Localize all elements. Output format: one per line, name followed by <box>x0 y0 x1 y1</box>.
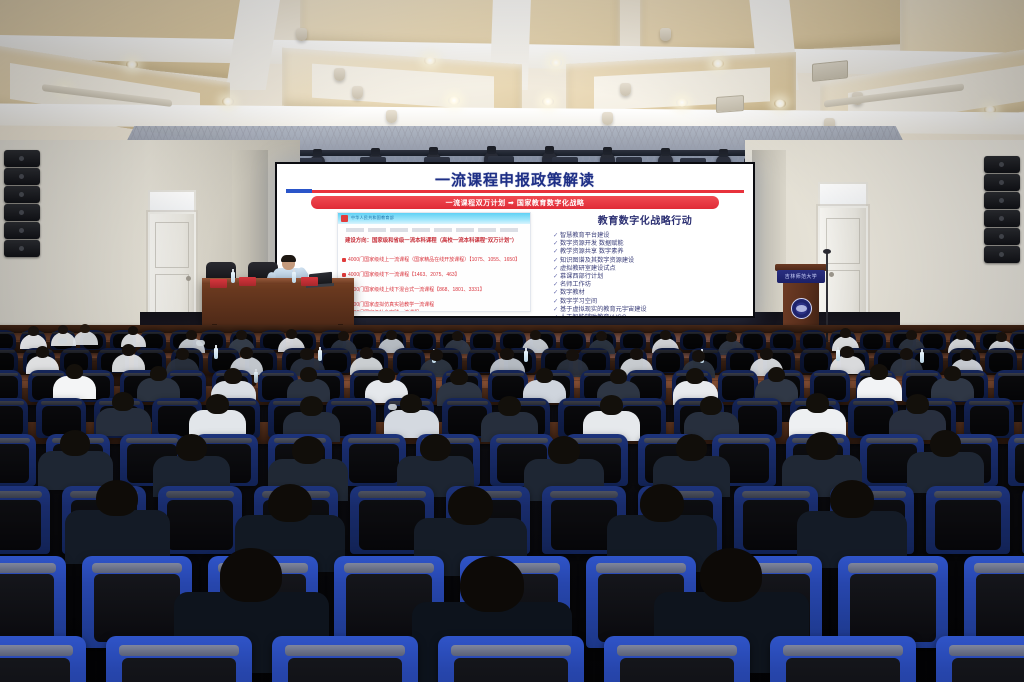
seat-top-trim <box>0 373 18 376</box>
seat-cushion <box>323 353 348 372</box>
water-bottle <box>318 350 322 361</box>
attendee-head <box>206 394 229 414</box>
right-panel-item-label: 知识图谱及其数字资源建设 <box>560 257 634 264</box>
attendee-head <box>450 369 468 385</box>
seat-top-trim <box>447 401 488 405</box>
seat-cushion <box>952 658 1024 682</box>
seat-cushion <box>0 376 18 400</box>
attendee-head <box>700 548 762 602</box>
table-name-card <box>301 277 318 286</box>
seat-top-trim <box>0 645 73 656</box>
attendee-head <box>452 331 463 341</box>
attendee-head <box>400 394 422 413</box>
slide-title: 一流课程申报政策解读 <box>277 169 753 190</box>
seat-top-trim <box>492 373 525 376</box>
presenter-hair <box>281 255 296 262</box>
attendee-head <box>460 556 524 612</box>
document-paragraph: 建设方向：国家级和省级一流本科课程（高校一流本科课程"双万计划"） <box>345 237 525 245</box>
seat[interactable] <box>158 486 242 554</box>
ceiling-spot-icon <box>334 68 345 81</box>
attendee-head <box>536 368 553 383</box>
attendee-head <box>58 325 68 334</box>
attendee-shoulders <box>96 408 151 437</box>
seat-top-trim <box>0 491 42 498</box>
attendee-head <box>300 348 314 360</box>
seat-top-trim <box>400 373 433 376</box>
seat-cushion <box>0 658 70 682</box>
seat-cushion <box>656 353 681 372</box>
seat-top-trim <box>1014 438 1024 443</box>
attendee-head <box>386 330 397 340</box>
seat-top-trim <box>0 401 24 405</box>
right-panel-item-label: 数字学习空间 <box>560 298 597 305</box>
ceiling-spot-icon <box>296 28 307 41</box>
seat-cushion <box>976 574 1024 642</box>
seat-top-trim <box>262 373 295 376</box>
face-mask <box>58 338 67 344</box>
seat-cushion <box>773 334 793 349</box>
attendee-shoulders <box>73 331 98 345</box>
check-icon: ✓ <box>553 240 560 248</box>
seat[interactable] <box>604 636 750 682</box>
seat-cushion <box>397 353 422 372</box>
seat-cushion <box>786 658 900 682</box>
document-bullet-item: 1000门国家级社会实践一流课程 <box>348 310 524 312</box>
seat[interactable] <box>0 330 16 350</box>
attendee-head <box>692 350 705 362</box>
attendee-head <box>640 484 684 522</box>
check-icon: ✓ <box>553 265 560 273</box>
door-knob-icon[interactable] <box>829 272 834 277</box>
ceiling-spot-icon <box>602 112 613 125</box>
seat-top-trim <box>0 563 56 572</box>
right-panel-item-label: 人工智能辅助教育/AIGC <box>560 314 626 316</box>
seat[interactable] <box>964 556 1024 648</box>
attendee-head <box>566 349 579 361</box>
right-panel-item-label: 智慧教育平台建设 <box>560 232 610 239</box>
check-icon: ✓ <box>553 306 560 314</box>
downlight <box>448 96 460 105</box>
seat[interactable] <box>860 330 886 350</box>
attendee-head <box>176 434 207 461</box>
seat-cushion <box>288 658 402 682</box>
attendee-head <box>112 392 134 411</box>
seat[interactable] <box>680 330 706 350</box>
seat-top-trim <box>742 491 811 498</box>
check-icon: ✓ <box>553 298 560 306</box>
seat-cushion <box>620 658 734 682</box>
attendee-head <box>840 346 854 358</box>
downlight <box>712 59 724 68</box>
attendee-head <box>830 480 874 518</box>
right-panel-item: ✓数字教材 <box>553 289 743 297</box>
attendee-head <box>530 330 541 340</box>
slide-document-screenshot: 中华人民共和国教育部 建设方向：国家级和省级一流本科课程（高校一流本科课程"双万… <box>337 212 531 312</box>
table-name-card <box>239 277 256 286</box>
door-knob-icon[interactable] <box>186 276 191 281</box>
seat[interactable] <box>838 556 948 648</box>
attendee-head <box>128 326 138 335</box>
slide-divider-accent <box>286 189 312 193</box>
seat-top-trim <box>157 401 198 405</box>
downlight <box>126 60 138 69</box>
seat-top-trim <box>998 373 1024 376</box>
seat[interactable] <box>410 330 436 350</box>
water-bottle <box>292 272 296 283</box>
seat[interactable] <box>770 636 916 682</box>
lecture-hall-photo: 一流课程申报政策解读 一流课程双万计划 ➡ 国家教育数字化战略 中华人民共和国教… <box>0 0 1024 682</box>
attendee-head <box>36 346 49 358</box>
seat-cushion <box>722 376 753 400</box>
attendee-head <box>80 324 90 333</box>
seat-top-trim <box>92 563 182 572</box>
speaker-stack-right <box>984 156 1020 268</box>
attendee-shoulders <box>53 376 96 399</box>
seat[interactable] <box>1008 434 1024 486</box>
seat[interactable] <box>0 556 66 648</box>
attendee-head <box>660 330 671 340</box>
downlight <box>542 97 554 106</box>
attendee-head <box>60 430 90 456</box>
face-mask <box>196 340 205 346</box>
attendee-head <box>268 484 312 522</box>
right-panel-item: ✓知识图谱及其数字资源建设 <box>553 257 743 265</box>
document-subheader-lines <box>346 228 522 232</box>
seat-cushion <box>94 574 180 642</box>
water-bottle <box>214 348 218 359</box>
ceiling-spot-icon <box>352 86 363 99</box>
seat[interactable] <box>740 330 766 350</box>
attendee-head <box>500 348 514 360</box>
seat-top-trim <box>906 373 939 376</box>
attendee-head <box>378 368 395 383</box>
seat-cushion <box>623 334 643 349</box>
seat-top-trim <box>358 491 427 498</box>
seat-cushion <box>0 406 23 436</box>
downlight <box>984 105 996 114</box>
seat[interactable] <box>470 330 496 350</box>
seat-cushion <box>1013 334 1024 349</box>
ceiling-spot-icon <box>386 110 397 123</box>
check-icon: ✓ <box>553 257 560 265</box>
seat-top-trim <box>969 401 1010 405</box>
attendee-head <box>870 364 888 380</box>
attendee-head <box>960 349 973 361</box>
downlight <box>774 99 786 108</box>
moe-site-title: 中华人民共和国教育部 <box>351 215 394 221</box>
attendee-head <box>300 396 323 416</box>
seat[interactable] <box>936 636 1024 682</box>
seat-cushion <box>0 574 54 642</box>
attendee-head <box>726 332 737 342</box>
seat-top-trim <box>32 373 65 376</box>
seat[interactable] <box>0 398 28 438</box>
attendee-head <box>292 436 324 464</box>
water-bottle <box>524 351 528 362</box>
seat-top-trim <box>166 491 235 498</box>
university-emblem-icon <box>791 298 812 319</box>
seat-cushion <box>923 334 943 349</box>
seat-top-trim <box>331 401 372 405</box>
right-panel-heading: 教育数字化战略行动 <box>547 212 743 227</box>
right-panel-item-label: 慕课西部行计划 <box>560 273 603 280</box>
seat-top-trim <box>934 491 1003 498</box>
downlight <box>676 98 688 107</box>
seat-top-trim <box>550 491 619 498</box>
attendee-head <box>768 367 785 382</box>
seat-top-trim <box>200 438 252 443</box>
seat-cushion <box>0 353 14 372</box>
seat-top-trim <box>285 645 405 656</box>
attendee-head <box>900 348 913 360</box>
downlight <box>222 97 234 106</box>
seat-cushion <box>935 500 1001 550</box>
podium-sign-text: 吉林师范大学 <box>785 273 817 280</box>
attendee-head <box>420 434 451 461</box>
downlight <box>424 56 436 65</box>
seat[interactable] <box>438 636 584 682</box>
seat-cushion <box>167 500 233 550</box>
seat[interactable] <box>964 398 1014 438</box>
seat-top-trim <box>126 438 178 443</box>
seat-cushion <box>998 376 1024 400</box>
attendee-head <box>122 344 135 356</box>
seat-top-trim <box>0 438 30 443</box>
seat-cushion <box>803 334 823 349</box>
seat-cushion <box>454 658 568 682</box>
check-icon: ✓ <box>553 314 560 316</box>
attendee-head <box>300 367 317 382</box>
attendee-head <box>186 330 197 340</box>
attendee-head <box>236 330 247 340</box>
seat-cushion <box>349 444 399 482</box>
seat-cushion <box>143 334 163 349</box>
check-icon: ✓ <box>553 289 560 297</box>
table-name-card <box>210 279 227 288</box>
attendee-head <box>600 395 623 415</box>
downlight <box>550 58 562 67</box>
attendee-head <box>930 430 961 457</box>
right-panel-item: ✓教学资源共享 数字素养 <box>553 248 743 256</box>
attendee-head <box>700 396 722 415</box>
slide-divider <box>286 190 744 193</box>
seat[interactable] <box>0 434 36 486</box>
right-panel-item-label: 基于虚拟现实的教育元宇宙建设 <box>560 306 647 313</box>
seat-top-trim <box>41 401 82 405</box>
seat-top-trim <box>853 401 894 405</box>
seat-top-trim <box>596 563 686 572</box>
seat[interactable] <box>620 330 646 350</box>
seat-cushion <box>413 334 433 349</box>
check-icon: ✓ <box>553 281 560 289</box>
seat-cushion <box>563 334 583 349</box>
seat-cushion <box>0 444 29 482</box>
seat-cushion <box>0 334 13 349</box>
seat-top-trim <box>814 373 847 376</box>
seat[interactable] <box>106 636 252 682</box>
attendee-head <box>676 434 707 461</box>
seat-cushion <box>683 334 703 349</box>
attendee-head <box>430 349 443 361</box>
attendee-head <box>498 396 521 416</box>
seat[interactable] <box>800 330 826 350</box>
seat-top-trim <box>949 645 1024 656</box>
attendee-head <box>548 436 580 464</box>
slide-banner: 一流课程双万计划 ➡ 国家教育数字化战略 <box>311 196 719 209</box>
attendee-head <box>240 347 253 359</box>
attendee-head <box>96 480 138 516</box>
right-panel-item-label: 数字教材 <box>560 289 585 296</box>
right-panel-item: ✓慕课西部行计划 <box>553 273 743 281</box>
right-panel-item-label: 数字资源开发 数据赋能 <box>560 240 624 247</box>
attendee-head <box>610 369 627 384</box>
seat-cushion <box>738 406 777 436</box>
seat[interactable] <box>560 330 586 350</box>
seat-top-trim <box>344 563 434 572</box>
speaker-stack-left <box>4 150 40 262</box>
check-icon: ✓ <box>553 248 560 256</box>
seat-top-trim <box>621 401 662 405</box>
ceiling-spot-icon <box>660 28 671 41</box>
seat-cushion <box>1015 444 1024 482</box>
seat[interactable] <box>0 486 50 554</box>
attendee-head <box>840 328 851 338</box>
attendee-head <box>224 368 242 384</box>
face-mask <box>388 404 397 410</box>
right-panel-item: ✓虚拟教研室建设试点 <box>553 265 743 273</box>
seat[interactable] <box>272 636 418 682</box>
check-icon: ✓ <box>553 273 560 281</box>
document-bullet-item: 6000门国家级线上线下混合式一流课程【868、1801、3331】 <box>348 287 524 295</box>
seat-top-trim <box>848 563 938 572</box>
right-panel-item: ✓人工智能辅助教育/AIGC <box>553 314 743 316</box>
seat-top-trim <box>170 373 203 376</box>
attendee-head <box>956 330 967 340</box>
seat-top-trim <box>451 645 571 656</box>
ceiling-spot-icon <box>620 83 631 96</box>
attendee-head <box>996 332 1007 342</box>
seat-cushion <box>122 658 236 682</box>
check-icon: ✓ <box>553 232 560 240</box>
podium-sign: 吉林师范大学 <box>777 270 825 283</box>
attendee-head <box>360 347 373 359</box>
document-bullet-item: 1500门国家虚拟仿真实验教学一流课程 <box>348 302 524 310</box>
seat[interactable] <box>732 398 782 438</box>
document-bullet-item: 4000门国家级线下一流课程【1463、2075、463】 <box>348 272 524 280</box>
attendee-head <box>28 326 39 336</box>
attendee-head <box>176 348 189 360</box>
seat-top-trim <box>348 438 400 443</box>
seat-cushion <box>503 334 523 349</box>
right-panel-list: ✓智慧教育平台建设✓数字资源开发 数据赋能✓教学资源共享 数字素养✓知识图谱及其… <box>553 232 743 316</box>
seat-cushion <box>863 334 883 349</box>
attendee-head <box>944 366 961 381</box>
attendee-head <box>66 364 83 379</box>
seat-cushion <box>203 334 223 349</box>
seat-top-trim <box>737 401 778 405</box>
right-panel-item: ✓数字学习空间 <box>553 298 743 306</box>
seat-cushion <box>0 500 41 550</box>
seat-cushion <box>854 406 893 436</box>
attendee-head <box>806 393 829 413</box>
attendee-head <box>906 394 929 414</box>
attendee-head <box>760 348 773 360</box>
seat-cushion <box>473 334 493 349</box>
bullet-marker-icon <box>342 258 346 262</box>
attendee-head <box>338 331 349 341</box>
right-panel-item-label: 名师工作坊 <box>560 281 591 288</box>
seat-top-trim <box>630 373 663 376</box>
seat-top-trim <box>722 373 755 376</box>
attendee-head <box>448 486 493 525</box>
seat-top-trim <box>974 563 1024 572</box>
seat-top-trim <box>119 645 239 656</box>
attendee-head <box>220 548 282 602</box>
seat-top-trim <box>496 438 548 443</box>
document-bullet-item: 4000门国家级线上一流课程（国家精品在线开放课程）【1075、1055、165… <box>348 257 524 265</box>
ceiling-vent <box>812 60 848 82</box>
seat-top-trim <box>783 645 903 656</box>
slide-right-panel: 教育数字化战略行动 ✓智慧教育平台建设✓数字资源开发 数据赋能✓教学资源共享 数… <box>547 212 743 310</box>
right-panel-item: ✓智慧教育平台建设 <box>553 232 743 240</box>
seat-top-trim <box>718 438 770 443</box>
right-panel-item-label: 虚拟教研室建设试点 <box>560 265 616 272</box>
right-panel-item: ✓基于虚拟现实的教育元宇宙建设 <box>553 306 743 314</box>
seat[interactable] <box>770 330 796 350</box>
seat-top-trim <box>866 438 918 443</box>
attendee-head <box>806 432 838 460</box>
moe-logo-icon <box>341 215 348 222</box>
attendee-head <box>150 366 167 381</box>
seat-cushion <box>850 574 936 642</box>
right-panel-item-label: 教学资源共享 数字素养 <box>560 248 624 255</box>
water-bottle <box>231 272 235 283</box>
attendee-head <box>596 331 607 341</box>
water-bottle <box>920 352 924 363</box>
seat-top-trim <box>617 645 737 656</box>
seat-cushion <box>804 353 829 372</box>
attendee-head <box>286 329 297 339</box>
bullet-marker-icon <box>342 273 346 277</box>
ceiling-vent <box>716 95 744 113</box>
seat-cushion <box>970 406 1009 436</box>
attendee-head <box>906 330 917 340</box>
seat[interactable] <box>926 486 1010 554</box>
seat-top-trim <box>563 401 604 405</box>
seat[interactable] <box>0 636 86 682</box>
seat-cushion <box>743 334 763 349</box>
attendee-head <box>686 368 704 384</box>
seat-cushion <box>989 353 1014 372</box>
attendee-head <box>630 348 643 360</box>
